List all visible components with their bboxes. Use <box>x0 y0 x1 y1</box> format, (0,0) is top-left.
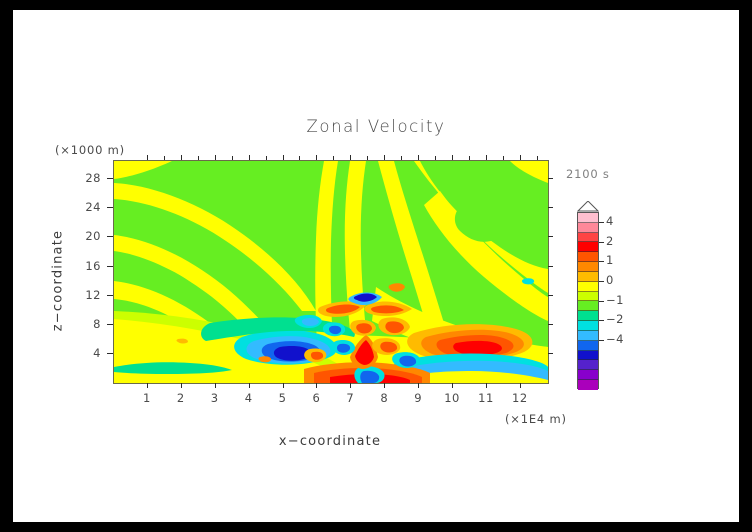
contour-field <box>114 161 548 383</box>
x-axis-minor-tick-top <box>503 156 504 160</box>
y-axis-tick <box>107 295 113 296</box>
x-axis-minor-tick-top <box>537 156 538 160</box>
y-axis-tick <box>107 236 113 237</box>
x-axis-tick-label: 11 <box>473 391 499 405</box>
y-axis-tick-label: 28 <box>75 171 101 185</box>
x-axis-tick-label: 10 <box>439 391 465 405</box>
y-axis-tick <box>107 324 113 325</box>
y-axis-tick-label: 20 <box>75 229 101 243</box>
y-axis-tick-label: 4 <box>75 346 101 360</box>
x-axis-minor-tick-top <box>401 156 402 160</box>
x-axis-tick-top <box>283 155 284 160</box>
x-axis-minor-tick-top <box>435 156 436 160</box>
x-axis-tick <box>316 383 317 388</box>
colorbar-band <box>578 213 598 223</box>
page-title: Zonal Velocity <box>13 117 739 136</box>
colorbar-tick <box>599 281 604 282</box>
colorbar-label: −4 <box>606 332 624 346</box>
colorbar-label: 1 <box>606 253 614 267</box>
x-axis-tick-label: 4 <box>236 391 262 405</box>
x-axis-minor-tick-top <box>164 156 165 160</box>
y-axis-tick <box>107 266 113 267</box>
x-axis-tick-top <box>249 155 250 160</box>
x-axis-minor-tick-top <box>299 156 300 160</box>
colorbar-band <box>578 380 598 390</box>
colorbar-band <box>578 272 598 282</box>
x-axis-tick-label: 12 <box>507 391 533 405</box>
y-axis-tick-label: 8 <box>75 317 101 331</box>
colorbar-label: −2 <box>606 312 624 326</box>
colorbar-band <box>578 262 598 272</box>
x-axis-tick-top <box>215 155 216 160</box>
contour-plot-area <box>113 160 549 384</box>
x-axis-tick-top <box>418 155 419 160</box>
colorbar-band <box>578 331 598 341</box>
x-axis-tick-top <box>147 155 148 160</box>
colorbar-band <box>578 223 598 233</box>
x-axis-tick <box>384 383 385 388</box>
x-axis-tick-top <box>181 155 182 160</box>
x-axis-tick-label: 3 <box>202 391 228 405</box>
x-axis-tick-top <box>520 155 521 160</box>
timestamp-label: 2100 s <box>566 167 610 181</box>
colorbar-label: 2 <box>606 234 614 248</box>
x-axis-units-label: (×1E4 m) <box>505 412 567 426</box>
colorbar-band <box>578 301 598 311</box>
colorbar-tick <box>599 261 604 262</box>
y-axis-tick-right <box>548 178 553 179</box>
colorbar-band <box>578 311 598 321</box>
colorbar-label: 0 <box>606 273 614 287</box>
y-axis-units-label: (×1000 m) <box>55 143 125 157</box>
x-axis-minor-tick-top <box>266 156 267 160</box>
y-axis-tick-right <box>548 236 553 237</box>
colorbar-tick <box>599 242 604 243</box>
y-axis-tick-right <box>548 266 553 267</box>
colorbar: 4210−1−2−4 <box>575 201 645 401</box>
x-axis-minor-tick-top <box>198 156 199 160</box>
colorbar-band <box>578 351 598 361</box>
y-axis-tick-right <box>548 324 553 325</box>
colorbar-bands <box>577 212 599 389</box>
x-axis-minor-tick-top <box>367 156 368 160</box>
y-axis-tick-label: 24 <box>75 200 101 214</box>
colorbar-band <box>578 233 598 243</box>
y-axis-tick <box>107 353 113 354</box>
colorbar-tick <box>599 301 604 302</box>
figure-canvas: Zonal Velocity (×1000 m) (×1E4 m) 2100 s… <box>13 10 739 522</box>
x-axis-tick <box>520 383 521 388</box>
x-axis-tick-label: 9 <box>405 391 431 405</box>
x-axis-tick-label: 6 <box>303 391 329 405</box>
x-axis-tick-label: 5 <box>270 391 296 405</box>
colorbar-tick <box>599 340 604 341</box>
x-axis-tick <box>215 383 216 388</box>
colorbar-band <box>578 282 598 292</box>
x-axis-tick-top <box>316 155 317 160</box>
colorbar-band <box>578 360 598 370</box>
colorbar-band <box>578 341 598 351</box>
x-axis-tick <box>147 383 148 388</box>
y-axis-tick-right <box>548 207 553 208</box>
x-axis-tick <box>249 383 250 388</box>
x-axis-tick <box>418 383 419 388</box>
x-axis-tick <box>452 383 453 388</box>
y-axis-tick <box>107 207 113 208</box>
x-axis-minor-tick-top <box>469 156 470 160</box>
y-axis-tick <box>107 178 113 179</box>
y-axis-tick-right <box>548 295 553 296</box>
y-axis-tick-label: 12 <box>75 288 101 302</box>
x-axis-tick-label: 8 <box>371 391 397 405</box>
colorbar-band <box>578 321 598 331</box>
colorbar-tick <box>599 320 604 321</box>
x-axis-minor-tick-top <box>333 156 334 160</box>
x-axis-tick-top <box>384 155 385 160</box>
colorbar-label: 4 <box>606 214 614 228</box>
figure-frame: Zonal Velocity (×1000 m) (×1E4 m) 2100 s… <box>0 0 752 532</box>
x-axis-tick <box>181 383 182 388</box>
y-axis-tick-label: 16 <box>75 259 101 273</box>
colorbar-label: −1 <box>606 293 624 307</box>
y-axis-tick-right <box>548 353 553 354</box>
colorbar-band <box>578 370 598 380</box>
x-axis-tick <box>486 383 487 388</box>
x-axis-tick-top <box>350 155 351 160</box>
colorbar-arrow-cap <box>577 201 599 212</box>
x-axis-tick-top <box>486 155 487 160</box>
x-axis-title: x−coordinate <box>113 434 547 449</box>
colorbar-band <box>578 252 598 262</box>
x-axis-tick <box>283 383 284 388</box>
x-axis-tick-top <box>452 155 453 160</box>
colorbar-band <box>578 292 598 302</box>
y-axis-title: z−coordinate <box>51 206 66 356</box>
colorbar-tick <box>599 222 604 223</box>
colorbar-band <box>578 242 598 252</box>
x-axis-tick-label: 1 <box>134 391 160 405</box>
x-axis-tick <box>350 383 351 388</box>
x-axis-minor-tick-top <box>232 156 233 160</box>
x-axis-tick-label: 7 <box>337 391 363 405</box>
x-axis-tick-label: 2 <box>168 391 194 405</box>
